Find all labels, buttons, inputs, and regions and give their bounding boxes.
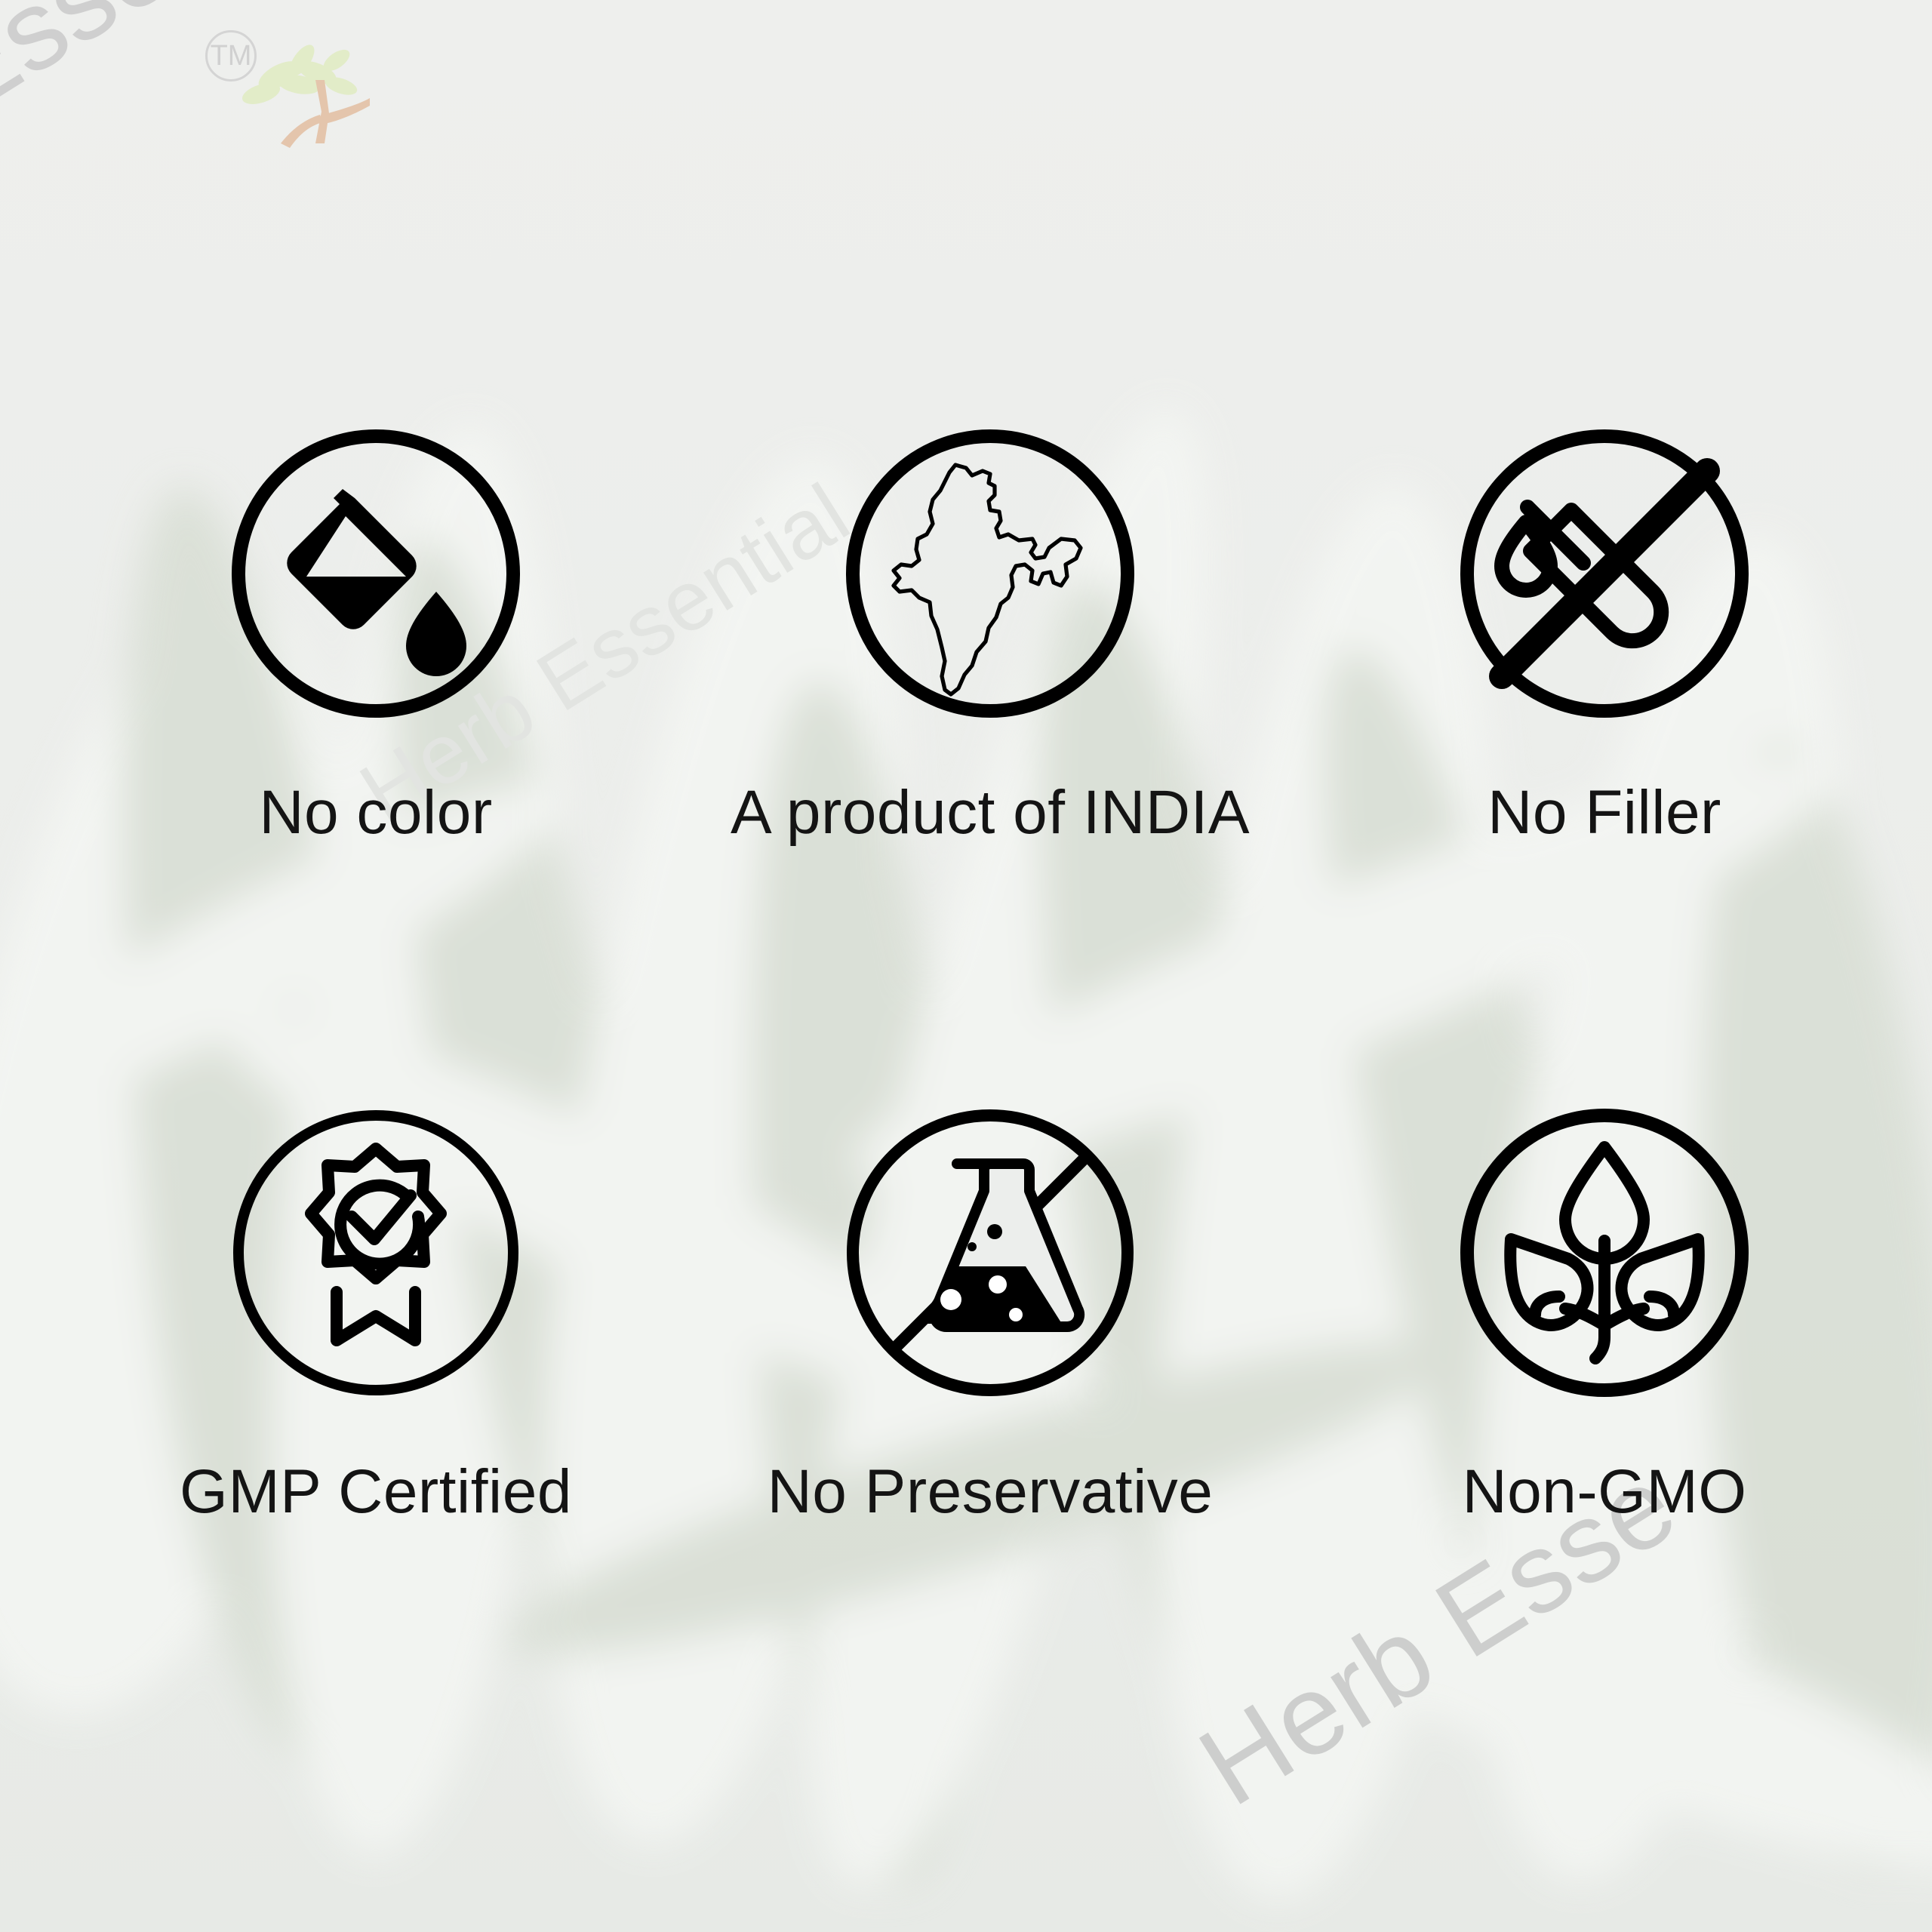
badge-item-non-gmo: Non-GMO — [1303, 1102, 1906, 1523]
badge-item-no-preservative: No Preservative — [688, 1102, 1292, 1523]
badge-label: GMP Certified — [180, 1461, 572, 1523]
badge-item-gmp-certified: GMP Certified — [74, 1102, 678, 1523]
sprout-leaves-icon — [1454, 1102, 1755, 1404]
badge-label: No color — [259, 782, 492, 844]
erlenmeyer-flask-icon — [839, 1102, 1141, 1404]
badge-item-no-color: No color — [74, 423, 678, 844]
india-map-icon — [839, 423, 1141, 724]
award-rosette-check-icon — [225, 1102, 527, 1404]
badge-label: No Filler — [1487, 782, 1721, 844]
badge-label: Non-GMO — [1462, 1461, 1746, 1523]
badge-label: No Preservative — [768, 1461, 1214, 1523]
badge-grid: No color A product of INDIA — [0, 0, 1932, 1932]
product-feature-badges-panel: Essential TM Herb Essential Herb Esse — [0, 0, 1932, 1932]
badge-label: A product of INDIA — [731, 782, 1250, 844]
badge-item-no-filler: No Filler — [1303, 423, 1906, 844]
test-tube-droplet-icon — [1454, 423, 1755, 724]
paint-bucket-pour-icon — [225, 423, 527, 724]
badge-item-product-of-india: A product of INDIA — [688, 423, 1292, 844]
